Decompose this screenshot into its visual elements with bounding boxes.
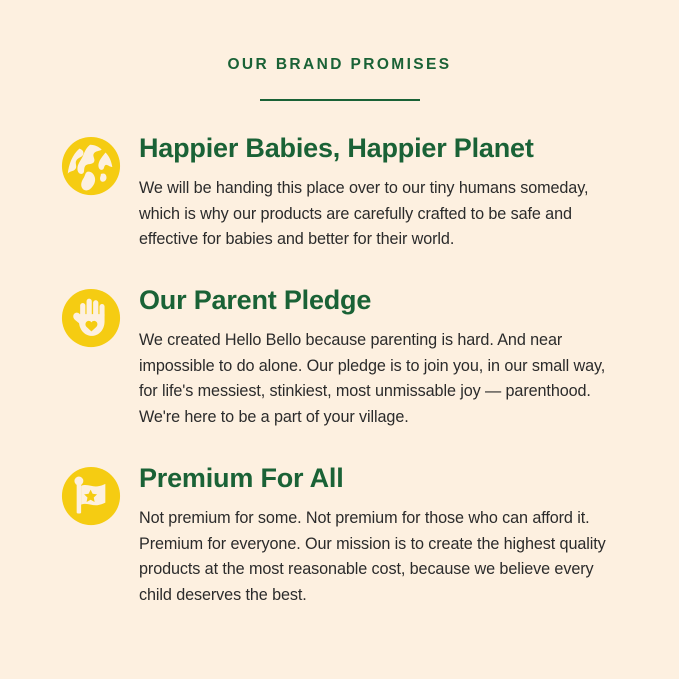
promise-title: Our Parent Pledge: [139, 285, 627, 315]
promise-description: We will be handing this place over to ou…: [139, 176, 617, 253]
promise-title: Premium For All: [139, 463, 627, 493]
promise-description: Not premium for some. Not premium for th…: [139, 506, 617, 608]
promise-description: We created Hello Bello because parenting…: [139, 328, 617, 430]
promise-content: Our Parent Pledge We created Hello Bello…: [139, 283, 627, 431]
promise-item-happier-babies: Happier Babies, Happier Planet We will b…: [60, 131, 627, 253]
globe-icon: [60, 135, 122, 197]
promise-item-premium-for-all: Premium For All Not premium for some. No…: [60, 461, 627, 609]
page-title: OUR BRAND PROMISES: [0, 56, 679, 73]
promise-item-parent-pledge: Our Parent Pledge We created Hello Bello…: [60, 283, 627, 431]
header: OUR BRAND PROMISES: [0, 0, 679, 101]
promise-title: Happier Babies, Happier Planet: [139, 133, 627, 163]
promise-content: Happier Babies, Happier Planet We will b…: [139, 131, 627, 253]
divider-container: [0, 99, 679, 101]
brand-promises-panel: OUR BRAND PROMISES Happier Babies, Happi…: [0, 0, 679, 679]
promise-content: Premium For All Not premium for some. No…: [139, 461, 627, 609]
hand-heart-icon: [60, 287, 122, 349]
title-divider: [260, 99, 420, 101]
promise-list: Happier Babies, Happier Planet We will b…: [0, 131, 679, 608]
flag-star-icon: [60, 465, 122, 527]
